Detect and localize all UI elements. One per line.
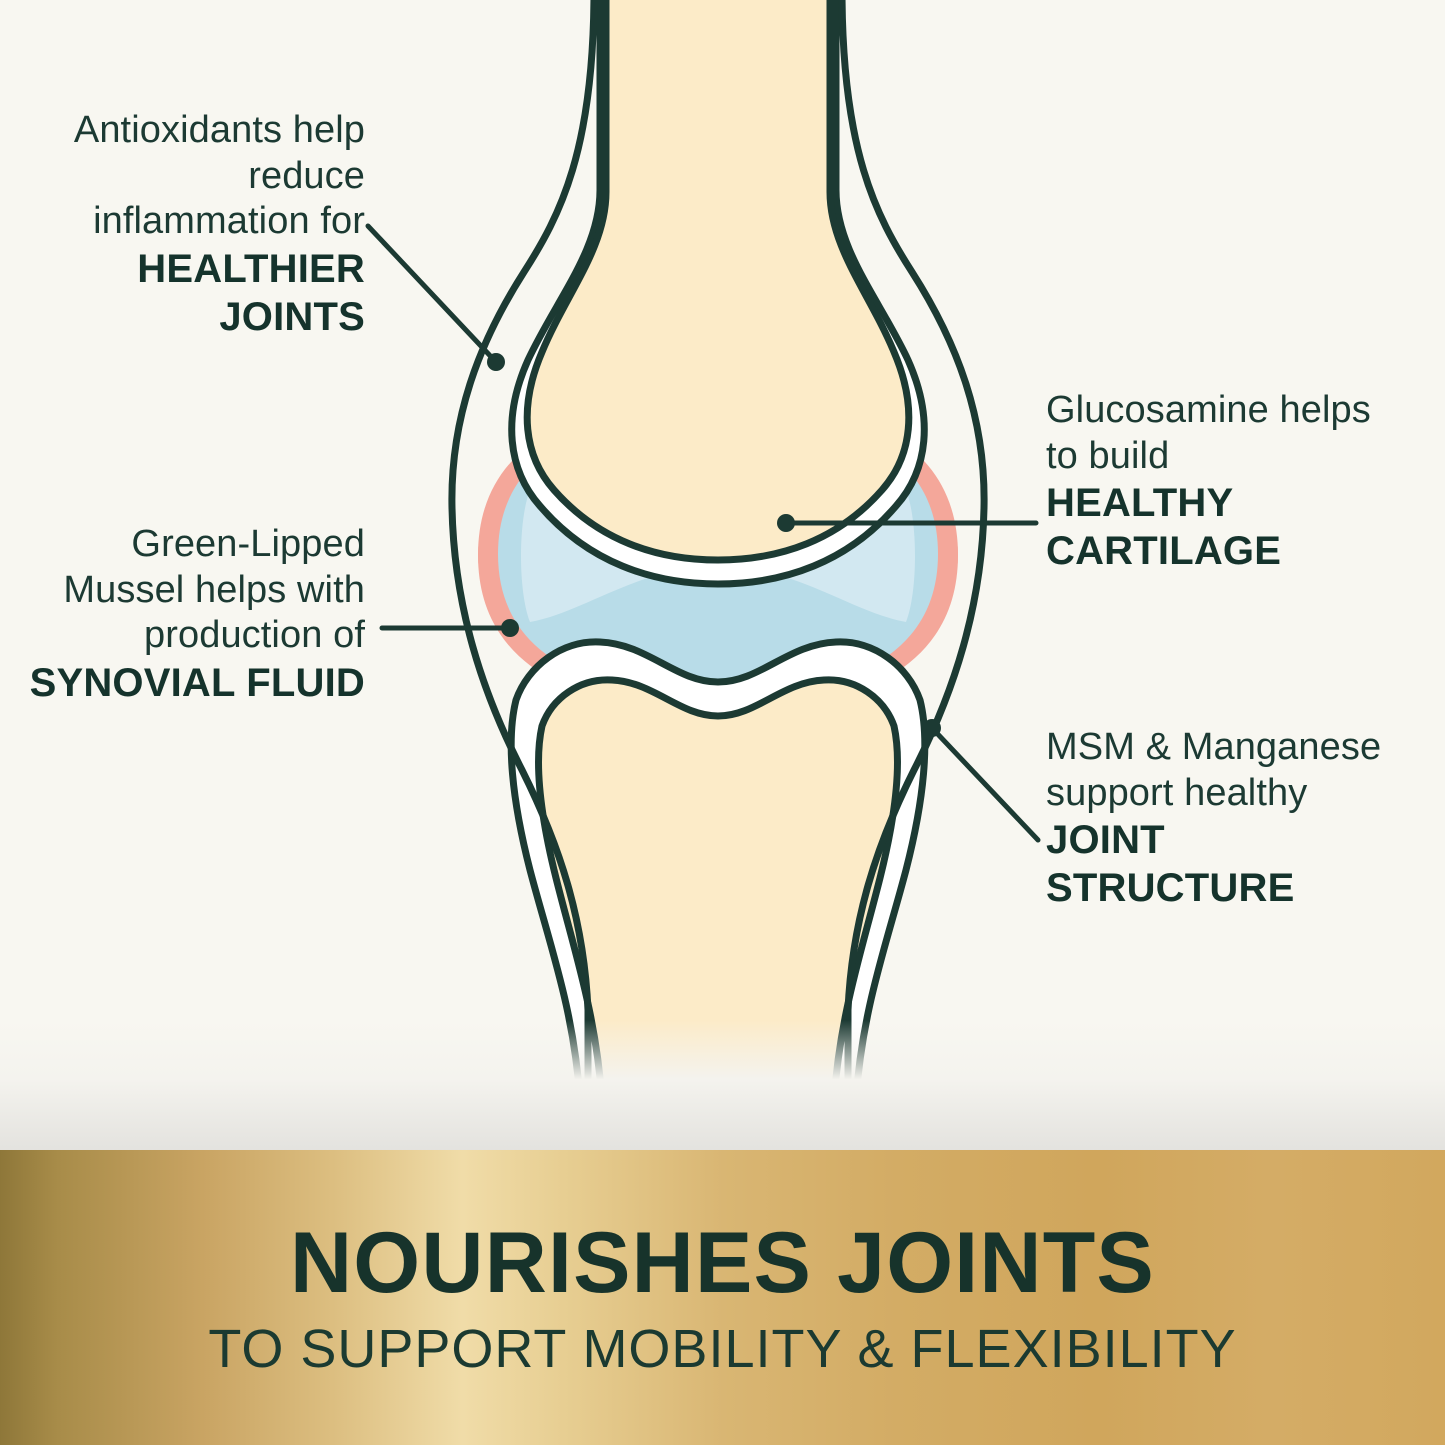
callout-glucosamine-lede: Glucosamine helps to build	[1046, 388, 1386, 479]
callout-msm-manganese: MSM & Manganese support healthy JOINT ST…	[1046, 725, 1391, 912]
femur-bone-body	[527, 0, 909, 560]
leader-dot-glucosamine	[777, 514, 795, 532]
gold-banner: NOURISHES JOINTS TO SUPPORT MOBILITY & F…	[0, 1150, 1445, 1445]
infographic-canvas: Antioxidants help reduce inflammation fo…	[0, 0, 1445, 1445]
callout-antioxidants-lede: Antioxidants help reduce inflammation fo…	[30, 108, 365, 245]
callout-msm-lede: MSM & Manganese support healthy	[1046, 725, 1391, 816]
callout-glucosamine: Glucosamine helps to build HEALTHY CARTI…	[1046, 388, 1386, 575]
upper-bone-femur	[512, 0, 925, 584]
leader-dot-mussel	[501, 619, 519, 637]
callout-msm-emphasis: JOINT STRUCTURE	[1046, 816, 1391, 912]
callout-antioxidants-emphasis: HEALTHIER JOINTS	[30, 245, 365, 341]
leader-dot-msm	[923, 719, 941, 737]
callout-glucosamine-emphasis: HEALTHY CARTILAGE	[1046, 479, 1386, 575]
leader-line-msm	[932, 728, 1038, 840]
banner-subline: TO SUPPORT MOBILITY & FLEXIBILITY	[208, 1322, 1236, 1376]
callout-mussel-emphasis: SYNOVIAL FLUID	[10, 659, 365, 707]
leader-line-antioxidants	[368, 226, 496, 362]
leader-dot-antioxidants	[487, 353, 505, 371]
callout-green-lipped-mussel: Green-Lipped Mussel helps with productio…	[10, 522, 365, 707]
callout-mussel-lede: Green-Lipped Mussel helps with productio…	[10, 522, 365, 659]
callout-antioxidants: Antioxidants help reduce inflammation fo…	[30, 108, 365, 341]
banner-headline: NOURISHES JOINTS	[290, 1220, 1155, 1306]
